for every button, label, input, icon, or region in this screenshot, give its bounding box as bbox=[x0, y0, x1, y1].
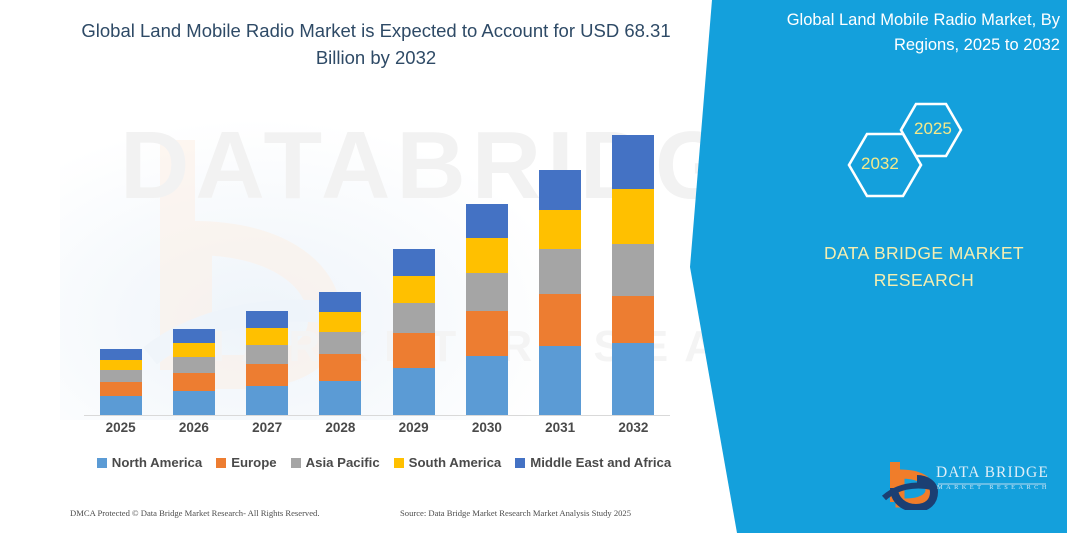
hex-label-2025: 2025 bbox=[914, 119, 952, 139]
logo-main-text: DATA BRIDGE bbox=[936, 464, 1049, 482]
bar-segment[interactable] bbox=[319, 332, 361, 355]
stacked-bar-2027[interactable] bbox=[246, 311, 288, 415]
stacked-bar-2029[interactable] bbox=[393, 249, 435, 415]
bar-segment[interactable] bbox=[100, 360, 142, 371]
legend-swatch-icon bbox=[291, 458, 301, 468]
bar-slot bbox=[597, 104, 670, 415]
panel-title: Global Land Mobile Radio Market, By Regi… bbox=[742, 8, 1060, 58]
bar-segment[interactable] bbox=[246, 386, 288, 415]
bar-segment[interactable] bbox=[246, 364, 288, 386]
legend-label: North America bbox=[112, 455, 202, 470]
bar-slot bbox=[524, 104, 597, 415]
bar-segment[interactable] bbox=[100, 370, 142, 382]
footer-copyright: DMCA Protected © Data Bridge Market Rese… bbox=[70, 508, 320, 518]
bar-slot bbox=[84, 104, 157, 415]
chart-title: Global Land Mobile Radio Market is Expec… bbox=[66, 18, 686, 72]
bar-segment[interactable] bbox=[173, 343, 215, 357]
x-axis-line bbox=[84, 415, 670, 416]
bar-segment[interactable] bbox=[466, 311, 508, 356]
bar-segment[interactable] bbox=[393, 368, 435, 415]
x-axis-label-2028: 2028 bbox=[304, 420, 377, 435]
bar-segment[interactable] bbox=[173, 357, 215, 373]
bar-group bbox=[84, 104, 670, 415]
bar-segment[interactable] bbox=[539, 346, 581, 415]
bar-segment[interactable] bbox=[539, 170, 581, 210]
footer-source: Source: Data Bridge Market Research Mark… bbox=[400, 508, 631, 518]
bar-segment[interactable] bbox=[466, 273, 508, 311]
bar-segment[interactable] bbox=[173, 329, 215, 343]
x-axis-label-2026: 2026 bbox=[157, 420, 230, 435]
legend-swatch-icon bbox=[515, 458, 525, 468]
chart-legend: North AmericaEuropeAsia PacificSouth Ame… bbox=[84, 455, 684, 470]
infographic-root: DATABRIDGE MARKET RESEARCH Global Land M… bbox=[0, 0, 1067, 533]
bar-segment[interactable] bbox=[173, 373, 215, 391]
stacked-bar-2028[interactable] bbox=[319, 292, 361, 415]
bar-segment[interactable] bbox=[173, 391, 215, 415]
brand-line-2: RESEARCH bbox=[874, 270, 974, 290]
bar-segment[interactable] bbox=[246, 328, 288, 345]
bar-segment[interactable] bbox=[539, 294, 581, 346]
hex-label-2032: 2032 bbox=[861, 154, 899, 174]
x-axis-label-2032: 2032 bbox=[597, 420, 670, 435]
bar-segment[interactable] bbox=[612, 189, 654, 245]
stacked-bar-2025[interactable] bbox=[100, 349, 142, 415]
bar-slot bbox=[377, 104, 450, 415]
bar-segment[interactable] bbox=[319, 292, 361, 312]
bar-segment[interactable] bbox=[319, 354, 361, 380]
bar-slot bbox=[157, 104, 230, 415]
bar-segment[interactable] bbox=[393, 249, 435, 276]
brand-line-1: DATA BRIDGE MARKET bbox=[824, 243, 1024, 263]
bar-segment[interactable] bbox=[319, 312, 361, 332]
legend-item[interactable]: North America bbox=[97, 455, 202, 470]
x-axis-labels: 20252026202720282029203020312032 bbox=[84, 420, 670, 435]
x-axis-label-2027: 2027 bbox=[231, 420, 304, 435]
legend-item[interactable]: Asia Pacific bbox=[291, 455, 380, 470]
bar-segment[interactable] bbox=[612, 296, 654, 344]
hexagon-group: 2025 2032 bbox=[820, 92, 1060, 217]
chart-plot-area bbox=[84, 104, 670, 416]
stacked-bar-2030[interactable] bbox=[466, 204, 508, 415]
legend-item[interactable]: Middle East and Africa bbox=[515, 455, 671, 470]
bar-slot bbox=[231, 104, 304, 415]
legend-swatch-icon bbox=[216, 458, 226, 468]
bar-slot bbox=[450, 104, 523, 415]
bar-segment[interactable] bbox=[466, 356, 508, 415]
x-axis-label-2030: 2030 bbox=[450, 420, 523, 435]
legend-label: Europe bbox=[231, 455, 276, 470]
legend-label: South America bbox=[409, 455, 502, 470]
x-axis-label-2025: 2025 bbox=[84, 420, 157, 435]
legend-swatch-icon bbox=[394, 458, 404, 468]
footer: DMCA Protected © Data Bridge Market Rese… bbox=[0, 508, 700, 528]
bar-slot bbox=[304, 104, 377, 415]
legend-label: Middle East and Africa bbox=[530, 455, 671, 470]
bar-segment[interactable] bbox=[466, 204, 508, 238]
stacked-bar-2026[interactable] bbox=[173, 329, 215, 415]
bar-segment[interactable] bbox=[100, 396, 142, 415]
logo-sub-text: MARKET RESEARCH bbox=[937, 484, 1050, 491]
bar-segment[interactable] bbox=[393, 333, 435, 368]
stacked-bar-2031[interactable] bbox=[539, 170, 581, 415]
bar-segment[interactable] bbox=[612, 343, 654, 415]
stacked-bar-2032[interactable] bbox=[612, 135, 654, 415]
legend-swatch-icon bbox=[97, 458, 107, 468]
legend-label: Asia Pacific bbox=[306, 455, 380, 470]
bar-segment[interactable] bbox=[393, 303, 435, 333]
legend-item[interactable]: Europe bbox=[216, 455, 276, 470]
bar-segment[interactable] bbox=[100, 349, 142, 360]
x-axis-label-2031: 2031 bbox=[524, 420, 597, 435]
x-axis-label-2029: 2029 bbox=[377, 420, 450, 435]
bar-segment[interactable] bbox=[319, 381, 361, 415]
hexagon-shapes-icon bbox=[820, 92, 1060, 217]
company-logo: DATA BRIDGE MARKET RESEARCH bbox=[876, 458, 1056, 510]
bar-segment[interactable] bbox=[612, 135, 654, 189]
bar-segment[interactable] bbox=[246, 345, 288, 364]
bar-segment[interactable] bbox=[100, 382, 142, 396]
bar-segment[interactable] bbox=[539, 210, 581, 250]
brand-name: DATA BRIDGE MARKET RESEARCH bbox=[790, 240, 1058, 294]
bar-segment[interactable] bbox=[539, 249, 581, 293]
bar-segment[interactable] bbox=[612, 244, 654, 295]
bar-segment[interactable] bbox=[466, 238, 508, 272]
legend-item[interactable]: South America bbox=[394, 455, 502, 470]
bar-segment[interactable] bbox=[246, 311, 288, 328]
bar-segment[interactable] bbox=[393, 276, 435, 303]
